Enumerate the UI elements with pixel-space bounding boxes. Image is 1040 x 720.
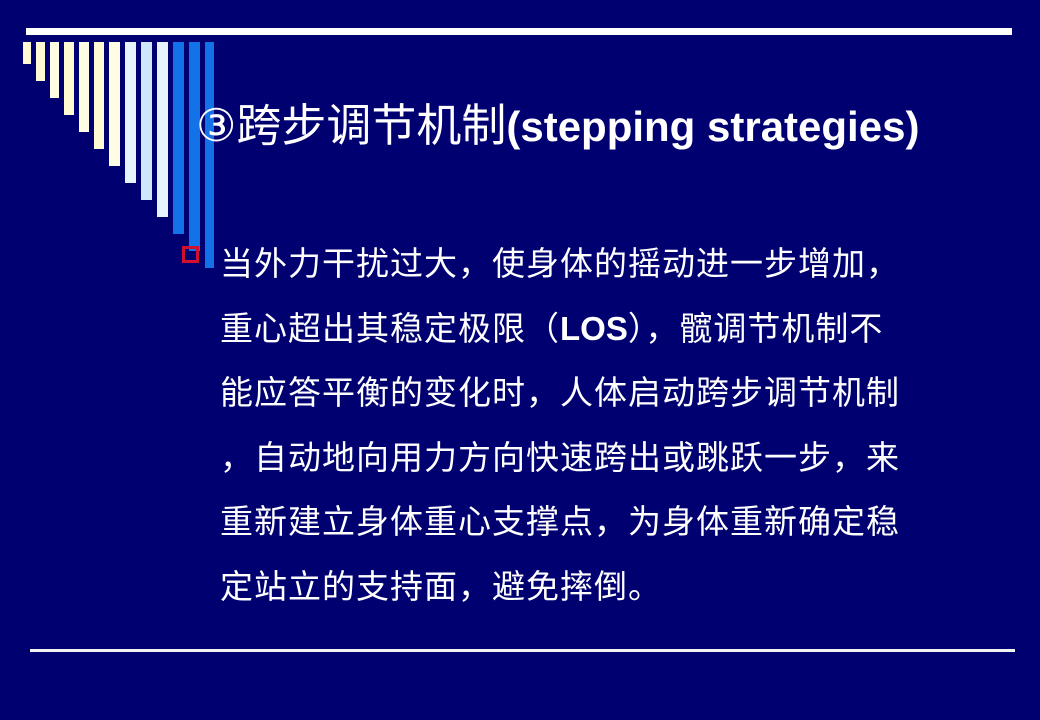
body-line-2-acronym: LOS bbox=[560, 310, 628, 347]
top-divider-rule bbox=[26, 28, 1012, 35]
decorative-bar bbox=[50, 42, 59, 98]
slide-title: ③跨步调节机制(stepping strategies) bbox=[196, 98, 1016, 155]
decorative-bar bbox=[23, 42, 31, 64]
body-content: 当外力干扰过大，使身体的摇动进一步增加， 重心超出其稳定极限（LOS），髋调节机… bbox=[182, 232, 1012, 619]
decorative-bar-motif bbox=[23, 42, 203, 202]
title-cjk-text: 跨步调节机制 bbox=[236, 99, 506, 152]
bullet-paragraph: 当外力干扰过大，使身体的摇动进一步增加， 重心超出其稳定极限（LOS），髋调节机… bbox=[220, 232, 1012, 619]
body-line-2-post: ），髋调节机制不 bbox=[628, 309, 884, 348]
slide-canvas: ③跨步调节机制(stepping strategies) 当外力干扰过大，使身体… bbox=[0, 0, 1040, 720]
decorative-bar bbox=[36, 42, 45, 81]
decorative-bar bbox=[109, 42, 120, 166]
decorative-bar bbox=[141, 42, 152, 200]
decorative-bar bbox=[94, 42, 104, 149]
bullet-list-item: 当外力干扰过大，使身体的摇动进一步增加， 重心超出其稳定极限（LOS），髋调节机… bbox=[182, 232, 1012, 619]
square-bullet-icon bbox=[182, 246, 199, 263]
body-line-2-pre: 重心超出其稳定极限（ bbox=[220, 309, 560, 348]
decorative-bar bbox=[125, 42, 136, 183]
title-marker: ③ bbox=[196, 99, 236, 152]
decorative-bar bbox=[157, 42, 168, 217]
decorative-bar bbox=[173, 42, 184, 234]
body-line-4: ，自动地向用力方向快速跨出或跳跃一步，来 bbox=[220, 426, 1012, 491]
title-latin-text: (stepping strategies) bbox=[506, 103, 919, 150]
body-line-1: 当外力干扰过大，使身体的摇动进一步增加， bbox=[220, 232, 1012, 297]
decorative-bar bbox=[64, 42, 74, 115]
body-line-3: 能应答平衡的变化时，人体启动跨步调节机制 bbox=[220, 361, 1012, 426]
body-line-6: 定站立的支持面，避免摔倒。 bbox=[220, 555, 1012, 620]
bottom-divider-rule bbox=[30, 649, 1015, 652]
decorative-bar bbox=[79, 42, 89, 132]
body-line-5: 重新建立身体重心支撑点，为身体重新确定稳 bbox=[220, 490, 1012, 555]
body-line-2: 重心超出其稳定极限（LOS），髋调节机制不 bbox=[220, 297, 1012, 362]
